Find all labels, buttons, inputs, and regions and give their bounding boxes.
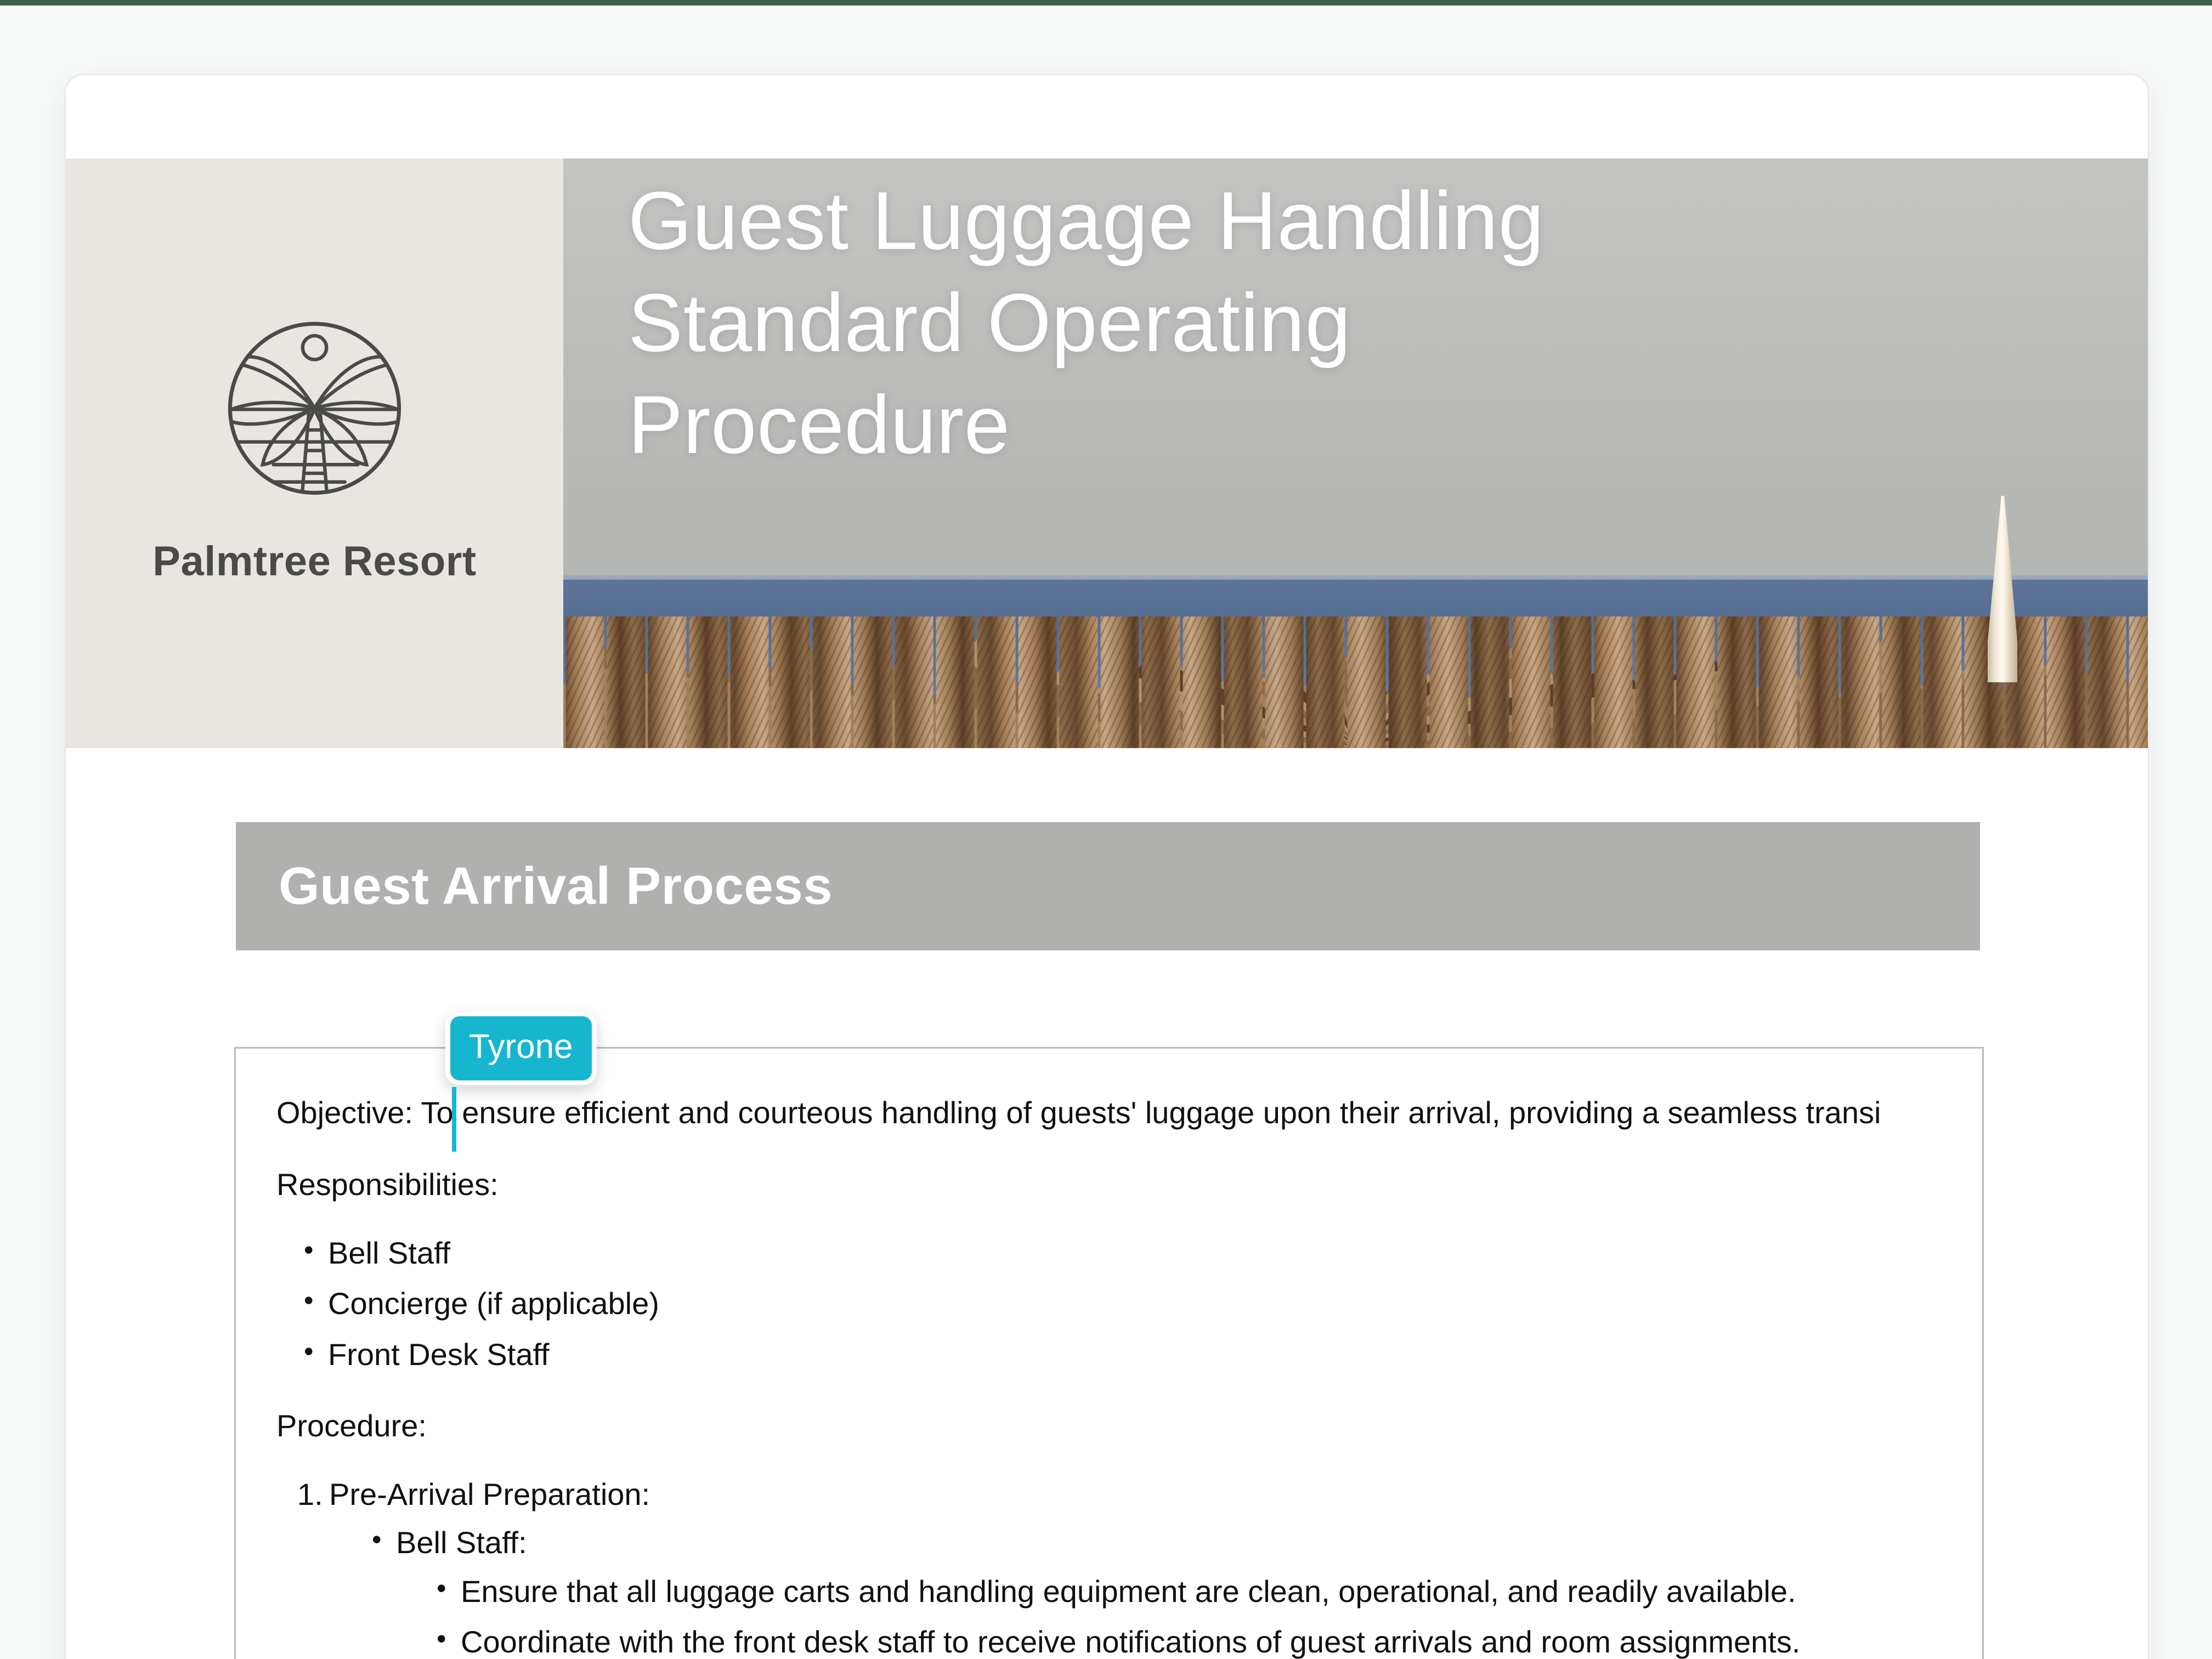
brand-wordmark: Palmtree Resort (152, 537, 476, 585)
document-title-line-3: Procedure (628, 373, 2104, 475)
procedure-step-label: Pre-Arrival Preparation: (329, 1477, 650, 1511)
list-item: Bell Staff (296, 1232, 1942, 1275)
content-text-box[interactable]: Tyrone Objective: To ensure efficient an… (234, 1047, 1984, 1659)
document-card: Palmtree Resort Guest Luggage Handling S… (65, 74, 2149, 1659)
responsibilities-list: Bell Staff Concierge (if applicable) Fro… (296, 1232, 1942, 1376)
document-title-line-2: Standard Operating (628, 271, 2104, 373)
top-accent-bar (0, 0, 2212, 5)
hero-umbrella-thatch (563, 616, 2148, 748)
collaborator-name-badge: Tyrone (445, 1011, 597, 1085)
brand-logo-panel: Palmtree Resort (66, 158, 563, 748)
document-title-line-1: Guest Luggage Handling (628, 169, 2104, 271)
list-item: Front Desk Staff (296, 1333, 1942, 1376)
list-item: Bell Staff: Ensure that all luggage cart… (364, 1521, 1942, 1659)
card-top-strip (66, 75, 2148, 158)
list-item: Coordinate with the front desk staff to … (429, 1621, 1942, 1659)
procedure-heading: Procedure: (276, 1405, 1942, 1448)
document-body: Guest Arrival Process Tyrone Objective: … (66, 748, 2148, 1659)
procedure-role-list: Bell Staff: Ensure that all luggage cart… (364, 1521, 1942, 1659)
responsibilities-heading: Responsibilities: (276, 1163, 1942, 1207)
collaborator-cursor: Tyrone (445, 1011, 597, 1085)
procedure-step: Pre-Arrival Preparation: Bell Staff: Ens… (297, 1473, 1942, 1659)
hero-photo: Guest Luggage Handling Standard Operatin… (563, 158, 2148, 748)
procedure-role-label: Bell Staff: (396, 1525, 527, 1560)
procedure-list: Pre-Arrival Preparation: Bell Staff: Ens… (297, 1473, 1942, 1659)
list-item: Concierge (if applicable) (296, 1282, 1942, 1325)
palm-tree-circle-icon (206, 300, 423, 517)
section-banner-title: Guest Arrival Process (279, 856, 833, 916)
document-title: Guest Luggage Handling Standard Operatin… (628, 169, 2104, 475)
document-header: Palmtree Resort Guest Luggage Handling S… (66, 158, 2148, 748)
list-item: Ensure that all luggage carts and handli… (429, 1570, 1942, 1613)
objective-paragraph: Objective: To ensure efficient and court… (276, 1091, 1942, 1135)
section-banner: Guest Arrival Process (236, 822, 1980, 950)
procedure-task-list: Ensure that all luggage carts and handli… (429, 1570, 1942, 1659)
